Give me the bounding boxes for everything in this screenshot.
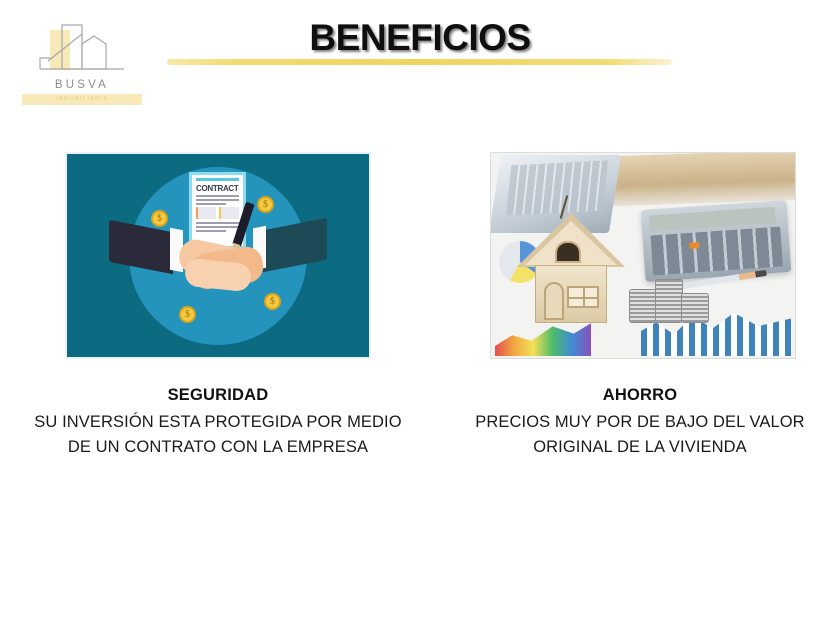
- logo-tagline: INMOBILIARIA: [22, 94, 142, 105]
- document-text-line: [196, 203, 226, 205]
- logo-wordmark: BUSVA: [22, 79, 142, 91]
- caption-seguridad: SEGURIDAD SU INVERSIÓN ESTA PROTEGIDA PO…: [22, 386, 414, 460]
- calculator-object: [641, 200, 792, 282]
- document-text-line: [196, 195, 239, 197]
- calculator-accent-key: [689, 242, 699, 249]
- coin-stack: [655, 279, 683, 323]
- document-field-box: [196, 207, 216, 219]
- dollar-coin-icon: $: [151, 210, 168, 227]
- calculator-keypad: [650, 226, 782, 275]
- coin-stacks: [629, 273, 709, 323]
- caption-ahorro: AHORRO PRECIOS MUY POR DE BAJO DEL VALOR…: [450, 386, 830, 460]
- document-header-bar: [196, 178, 239, 181]
- house-savings-photo: [490, 152, 796, 359]
- document-title-label: CONTRACT: [196, 184, 239, 193]
- house-body: [535, 265, 607, 323]
- page-title: BENEFICIOS: [0, 17, 840, 59]
- laptop-keyboard: [506, 161, 608, 216]
- benefit-body: SU INVERSIÓN ESTA PROTEGIDA POR MEDIO DE…: [22, 410, 414, 460]
- document-field-box: [219, 207, 239, 219]
- benefit-heading: AHORRO: [450, 386, 830, 405]
- document-field-group: [196, 207, 239, 219]
- handshake-contract-illustration: $ $ $ $ CONTRACT: [65, 152, 371, 359]
- document-text-line: [196, 230, 226, 232]
- desk-surface: [611, 152, 796, 206]
- house-attic-window: [555, 241, 581, 263]
- benefit-body: PRECIOS MUY POR DE BAJO DEL VALOR ORIGIN…: [450, 410, 830, 460]
- house-window: [567, 286, 599, 308]
- house-door: [544, 282, 564, 320]
- document-text-line: [196, 222, 239, 224]
- benefit-card-ahorro: [490, 152, 796, 359]
- coin-stack: [629, 289, 657, 323]
- wooden-house-model: [521, 213, 621, 323]
- benefit-heading: SEGURIDAD: [22, 386, 414, 405]
- coin-stack: [681, 293, 709, 323]
- document-text-line: [196, 199, 239, 201]
- benefit-card-seguridad: $ $ $ $ CONTRACT: [65, 152, 371, 359]
- dollar-coin-icon: $: [264, 293, 281, 310]
- dollar-coin-icon: $: [179, 306, 196, 323]
- title-underline-rule: [167, 59, 672, 65]
- document-text-line: [196, 226, 239, 228]
- dollar-coin-icon: $: [257, 196, 274, 213]
- slide-header: BUSVA INMOBILIARIA BENEFICIOS: [0, 0, 840, 130]
